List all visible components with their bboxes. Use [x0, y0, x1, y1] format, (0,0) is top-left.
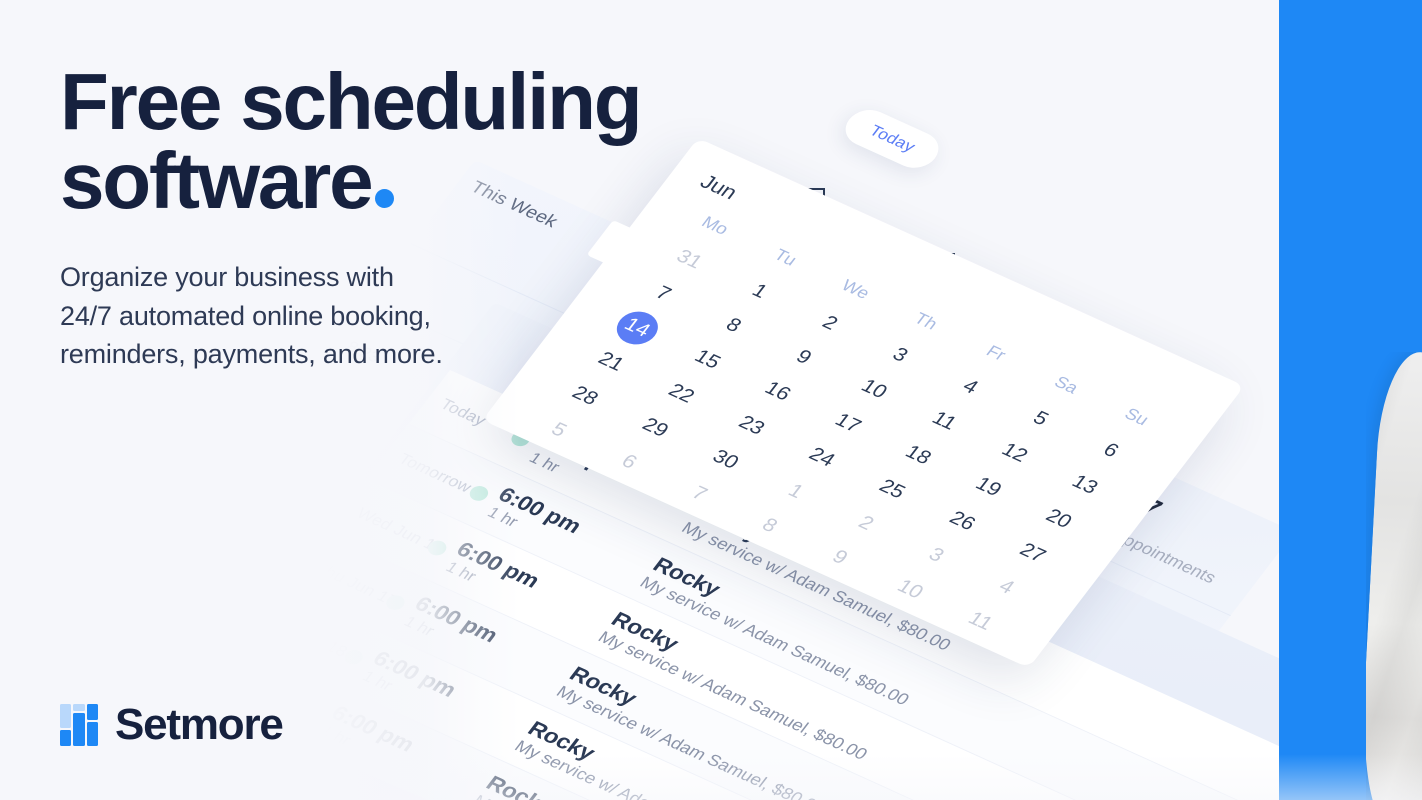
brand-logo[interactable]: Setmore — [60, 700, 283, 750]
person-sleeve — [1366, 352, 1422, 800]
logo-bar-4 — [73, 713, 84, 746]
hero-copy: Free scheduling software Organize your b… — [60, 62, 760, 373]
person-photo — [1366, 352, 1422, 800]
logo-bar-3 — [73, 704, 84, 711]
logo-bar-1 — [60, 704, 71, 728]
appointment-day-label: Tomorrow — [395, 450, 476, 497]
appointment-day-label: Fri Jun 18 — [269, 613, 351, 660]
headline-text: Free scheduling software — [60, 57, 640, 225]
logo-bar-5 — [87, 704, 98, 720]
appointment-day-label: Today — [436, 395, 490, 429]
logo-bar-6 — [87, 722, 98, 746]
headline-accent-dot-icon — [375, 189, 394, 208]
hero-banner: This Week 7 Appointments 8:23 Today6:00 … — [0, 0, 1422, 800]
setmore-bars-icon — [60, 704, 98, 746]
logo-bar-2 — [60, 730, 71, 746]
today-button[interactable]: Today — [837, 104, 947, 175]
logo-wordmark: Setmore — [115, 700, 283, 750]
hero-subtitle: Organize your business with 24/7 automat… — [60, 258, 760, 373]
page-title: Free scheduling software — [60, 62, 760, 220]
